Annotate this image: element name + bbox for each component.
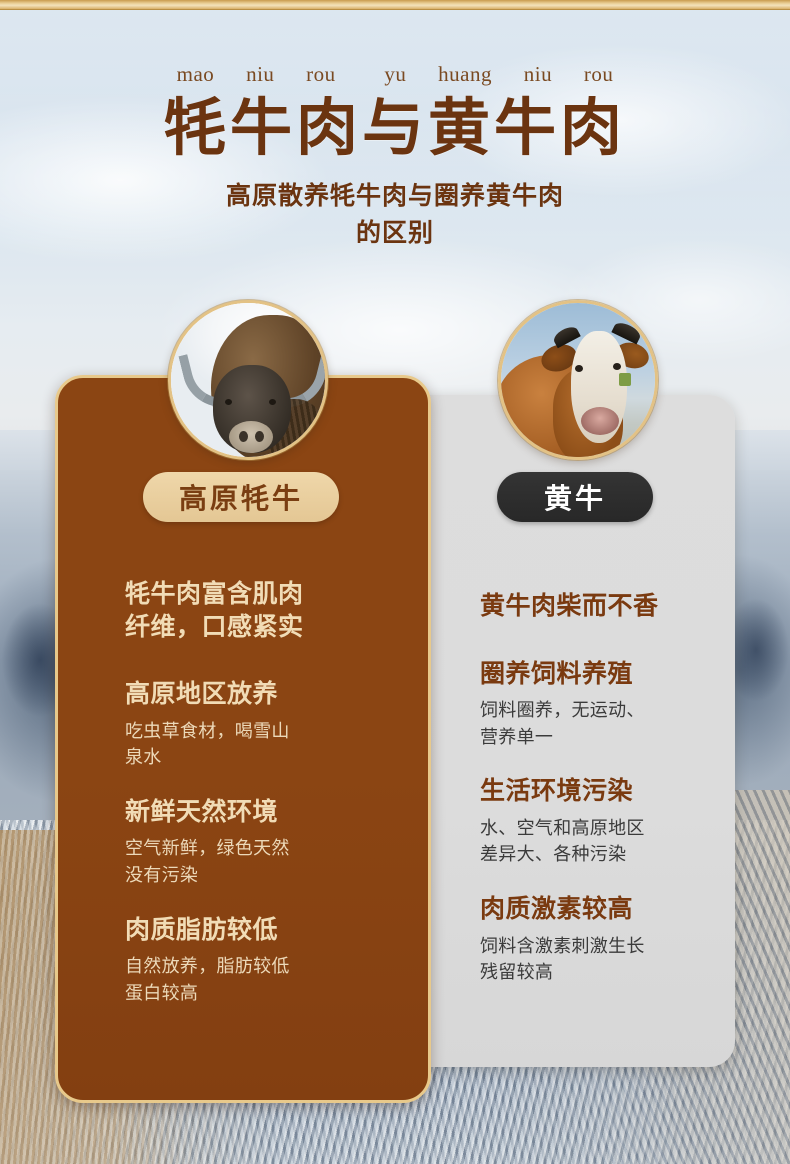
entry-description-line-2: 残留较高 [480, 959, 720, 986]
subtitle-line-2: 的区别 [0, 215, 790, 251]
pinyin-rou-2: rou [584, 62, 614, 87]
entry-heading: 黄牛肉柴而不香 [480, 590, 720, 623]
entry-heading: 新鲜天然环境 [125, 797, 405, 829]
entry-description-line-2: 没有污染 [125, 862, 405, 889]
entry-description-line-1: 自然放养，脂肪较低 [125, 953, 405, 980]
entry-description-line-1: 饲料含激素刺激生长 [480, 933, 720, 960]
entry-heading: 圈养饲料养殖 [480, 659, 720, 691]
poster-header: mao niu rou yu huang niu rou 牦牛肉与黄牛肉 高原散… [0, 0, 790, 251]
entry-description-line-2: 泉水 [125, 744, 405, 771]
pinyin-niu-2: niu [524, 62, 552, 87]
badge-yellow-cattle: 黄牛 [497, 472, 653, 522]
entry-description: 水、空气和高原地区 差异大、各种污染 [480, 815, 720, 868]
entry-description-line-1: 饲料圈养，无运动、 [480, 697, 720, 724]
pinyin-niu-1: niu [246, 62, 274, 87]
entry-description: 吃虫草食材，喝雪山 泉水 [125, 718, 405, 771]
pinyin-rou-1: rou [306, 62, 336, 87]
entry-description-line-1: 吃虫草食材，喝雪山 [125, 718, 405, 745]
badge-plateau-yak: 高原牦牛 [143, 472, 339, 522]
entry-description: 饲料含激素刺激生长 残留较高 [480, 933, 720, 986]
yellow-cattle-photo-art [501, 303, 655, 457]
pinyin-yu: yu [384, 62, 406, 87]
entry-description-line-1: 空气新鲜，绿色天然 [125, 835, 405, 862]
entry-heading-line-2: 纤维，口感紧实 [125, 611, 405, 644]
list-item: 肉质脂肪较低 自然放养，脂肪较低 蛋白较高 [125, 915, 405, 1007]
list-item: 牦牛肉富含肌肉 纤维，口感紧实 [125, 578, 405, 643]
list-item: 高原地区放养 吃虫草食材，喝雪山 泉水 [125, 679, 405, 771]
subtitle-line-1: 高原散养牦牛肉与圈养黄牛肉 [0, 178, 790, 214]
entry-description-line-2: 营养单一 [480, 724, 720, 751]
entry-description: 空气新鲜，绿色天然 没有污染 [125, 835, 405, 888]
list-item: 肉质激素较高 饲料含激素刺激生长 残留较高 [480, 894, 720, 986]
list-item: 圈养饲料养殖 饲料圈养，无运动、 营养单一 [480, 659, 720, 751]
cattle-feature-list: 黄牛肉柴而不香 圈养饲料养殖 饲料圈养，无运动、 营养单一 生活环境污染 水、空… [480, 590, 720, 986]
entry-heading: 肉质脂肪较低 [125, 915, 405, 947]
pinyin-row: mao niu rou yu huang niu rou [0, 62, 790, 87]
entry-description-line-2: 差异大、各种污染 [480, 841, 720, 868]
yak-photo [168, 300, 328, 460]
list-item: 生活环境污染 水、空气和高原地区 差异大、各种污染 [480, 776, 720, 868]
entry-heading: 牦牛肉富含肌肉 纤维，口感紧实 [125, 578, 405, 643]
yak-photo-art [171, 303, 325, 457]
entry-description: 饲料圈养，无运动、 营养单一 [480, 697, 720, 750]
yak-feature-list: 牦牛肉富含肌肉 纤维，口感紧实 高原地区放养 吃虫草食材，喝雪山 泉水 新鲜天然… [125, 578, 405, 1006]
entry-description: 自然放养，脂肪较低 蛋白较高 [125, 953, 405, 1006]
gold-top-border [0, 0, 790, 10]
entry-heading: 生活环境污染 [480, 776, 720, 808]
list-item: 黄牛肉柴而不香 [480, 590, 720, 623]
page-subtitle: 高原散养牦牛肉与圈养黄牛肉 的区别 [0, 178, 790, 251]
entry-description-line-1: 水、空气和高原地区 [480, 815, 720, 842]
poster-canvas: mao niu rou yu huang niu rou 牦牛肉与黄牛肉 高原散… [0, 0, 790, 1164]
entry-heading: 肉质激素较高 [480, 894, 720, 926]
list-item: 新鲜天然环境 空气新鲜，绿色天然 没有污染 [125, 797, 405, 889]
entry-heading-line-1: 牦牛肉富含肌肉 [125, 578, 405, 611]
yellow-cattle-photo [498, 300, 658, 460]
pinyin-mao: mao [177, 62, 215, 87]
entry-description-line-2: 蛋白较高 [125, 980, 405, 1007]
pinyin-huang: huang [438, 62, 492, 87]
page-title: 牦牛肉与黄牛肉 [0, 93, 790, 162]
entry-heading: 高原地区放养 [125, 679, 405, 711]
